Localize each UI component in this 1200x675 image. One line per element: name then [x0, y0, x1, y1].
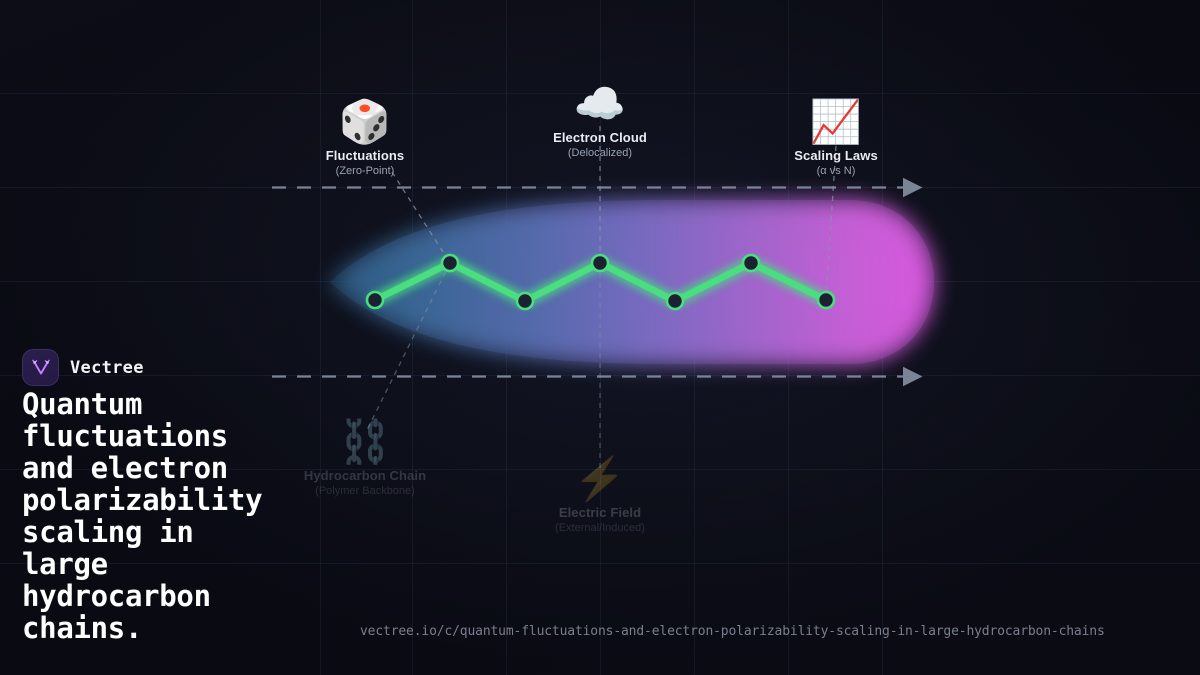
cloud-icon: ☁️	[500, 80, 700, 128]
game-die-icon: 🎲	[265, 98, 465, 146]
poster-canvas: 🎲Fluctuations(Zero-Point)☁️Electron Clou…	[0, 0, 1200, 675]
concept-blob	[330, 196, 934, 368]
vectree-v-logo-icon	[22, 349, 59, 386]
chart-increasing-icon: 📈	[736, 98, 936, 146]
concept-node-electric-field[interactable]: ⚡Electric Field(External/Induced)	[500, 455, 700, 534]
concept-label: Scaling Laws	[736, 148, 936, 163]
concept-node-scaling-laws[interactable]: 📈Scaling Laws(α vs N)	[736, 98, 936, 177]
brand-lockup[interactable]: Vectree	[22, 349, 144, 386]
concept-label: Fluctuations	[265, 148, 465, 163]
concept-node-fluctuations[interactable]: 🎲Fluctuations(Zero-Point)	[265, 98, 465, 177]
concept-label: Electric Field	[500, 505, 700, 520]
page-url[interactable]: vectree.io/c/quantum-fluctuations-and-el…	[360, 624, 1105, 639]
concept-sublabel: (Delocalized)	[500, 147, 700, 159]
concept-node-electron-cloud[interactable]: ☁️Electron Cloud(Delocalized)	[500, 80, 700, 159]
grid-line-horizontal	[0, 375, 1200, 376]
concept-sublabel: (α vs N)	[736, 165, 936, 177]
page-title: Quantum fluctuations and electron polari…	[22, 388, 352, 644]
concept-label: Electron Cloud	[500, 130, 700, 145]
grid-line-horizontal	[0, 187, 1200, 188]
concept-sublabel: (External/Induced)	[500, 522, 700, 534]
high-voltage-icon: ⚡	[500, 455, 700, 503]
brand-name: Vectree	[70, 358, 144, 378]
concept-sublabel: (Zero-Point)	[265, 165, 465, 177]
